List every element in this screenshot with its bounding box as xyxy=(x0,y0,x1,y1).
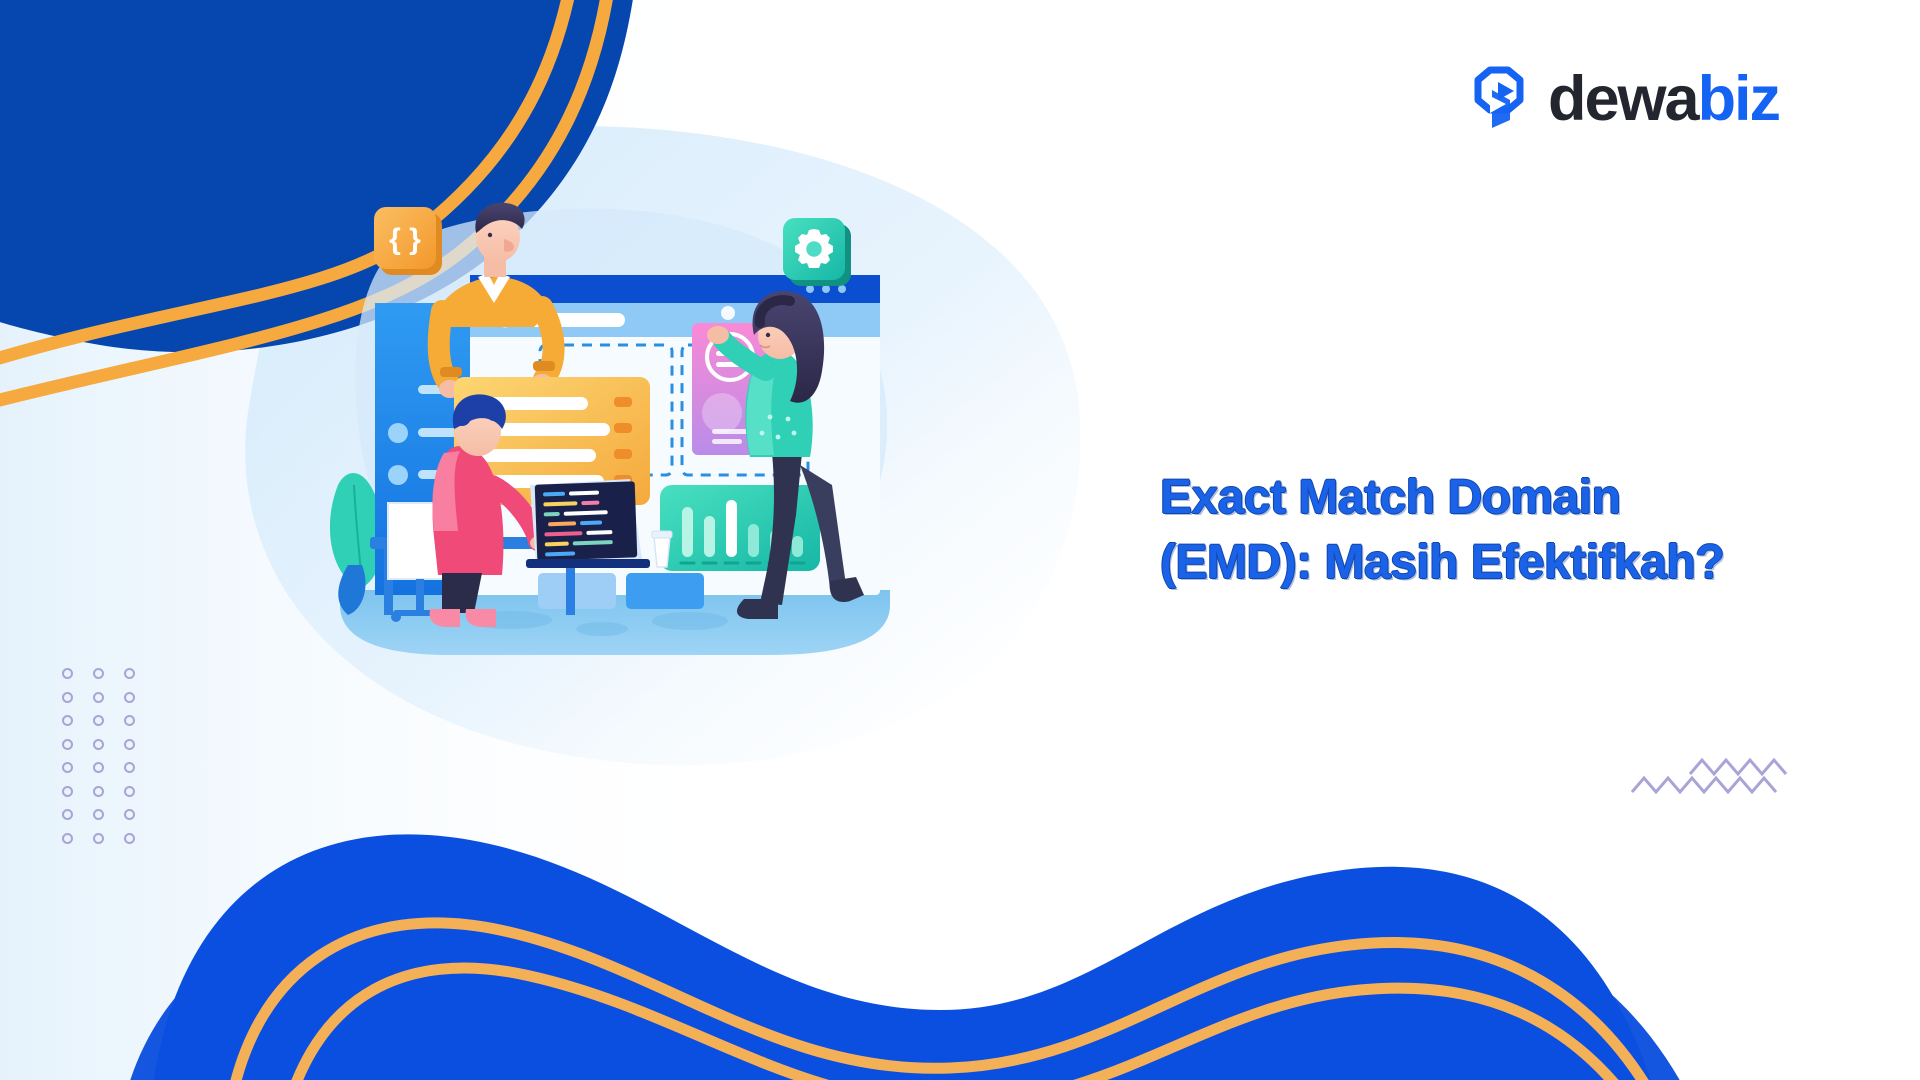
zigzag-decoration xyxy=(1630,748,1830,798)
logo-text-dewa: dewa xyxy=(1548,68,1698,131)
browser-dot-3 xyxy=(838,285,846,293)
woman-eye xyxy=(766,333,770,337)
dot xyxy=(93,739,104,750)
banner-canvas: dewabiz xyxy=(0,0,1920,1080)
logo-text-biz: biz xyxy=(1698,68,1780,131)
dots-row xyxy=(62,692,135,703)
drag-cursor-dot xyxy=(721,306,735,320)
dot xyxy=(93,786,104,797)
man-cuff-right xyxy=(533,361,555,371)
dot xyxy=(62,762,73,773)
dot xyxy=(93,833,104,844)
dots-row xyxy=(62,762,135,773)
dot xyxy=(124,692,135,703)
dots-row xyxy=(62,786,135,797)
dots-row xyxy=(62,715,135,726)
floor-shadow-3 xyxy=(652,612,728,630)
dot xyxy=(93,762,104,773)
dot xyxy=(93,809,104,820)
dots-row xyxy=(62,739,135,750)
footer-block-2 xyxy=(626,573,704,609)
chair-post xyxy=(416,579,424,611)
dot xyxy=(62,833,73,844)
man-cuff-left xyxy=(440,367,462,377)
man-eye xyxy=(488,233,492,237)
dot xyxy=(124,833,135,844)
dot xyxy=(124,715,135,726)
dots-grid-decoration xyxy=(62,668,135,856)
dot xyxy=(93,692,104,703)
dot xyxy=(62,692,73,703)
dot xyxy=(62,739,73,750)
dot xyxy=(62,715,73,726)
dots-row xyxy=(62,809,135,820)
dot xyxy=(62,809,73,820)
curly-braces-tile-icon: { } xyxy=(374,207,442,275)
yellow-card-tag-1 xyxy=(614,397,632,407)
chart-bar-3 xyxy=(726,500,737,557)
sidebar-dot-1 xyxy=(388,423,408,443)
dot xyxy=(124,762,135,773)
dot xyxy=(93,668,104,679)
laptop-base xyxy=(526,559,650,568)
dev-hair-curl-3 xyxy=(486,405,502,421)
hexagon-b-mark-icon xyxy=(1468,66,1530,132)
laptop-with-code-editor xyxy=(526,479,650,568)
dot xyxy=(93,715,104,726)
dots-row xyxy=(62,668,135,679)
chart-bar-2 xyxy=(704,516,715,557)
dot xyxy=(62,668,73,679)
dev-hair-curl-1 xyxy=(453,408,471,426)
chart-bar-1 xyxy=(682,507,693,557)
dot xyxy=(124,786,135,797)
dot xyxy=(124,809,135,820)
woman-shoe-1 xyxy=(737,599,778,619)
svg-text:{ }: { } xyxy=(389,223,421,256)
web-development-team-illustration: { } </> xyxy=(330,185,930,655)
dot xyxy=(62,786,73,797)
chart-bar-4 xyxy=(748,524,759,557)
dev-hair-curl-2 xyxy=(468,397,488,417)
gear-tile-icon xyxy=(783,218,851,286)
logo-wordmark: dewabiz xyxy=(1548,68,1779,131)
footer-block-1 xyxy=(538,573,616,609)
dewabiz-logo[interactable]: dewabiz xyxy=(1468,66,1779,132)
chair-wheel-1 xyxy=(391,612,401,622)
article-title-line-1: Exact Match Domain xyxy=(1160,466,1860,531)
dot xyxy=(124,668,135,679)
pink-card-circle-2 xyxy=(702,393,742,433)
yellow-card-tag-3 xyxy=(614,449,632,459)
floor-shadow-2 xyxy=(576,622,628,636)
dot xyxy=(124,739,135,750)
browser-dot-1 xyxy=(806,285,814,293)
zigzag-line-bottom xyxy=(1632,778,1776,792)
pink-card-line-4 xyxy=(712,439,742,444)
chart-bar-6 xyxy=(792,536,803,557)
browser-dot-2 xyxy=(822,285,830,293)
article-title: Exact Match Domain (EMD): Masih Efektifk… xyxy=(1160,466,1860,596)
sidebar-dot-2 xyxy=(388,465,408,485)
dots-row xyxy=(62,833,135,844)
yellow-card-tag-2 xyxy=(614,423,632,433)
article-title-line-2: (EMD): Masih Efektifkah? xyxy=(1160,531,1860,596)
zigzag-line-top xyxy=(1690,760,1786,774)
woman-hand xyxy=(707,326,729,344)
